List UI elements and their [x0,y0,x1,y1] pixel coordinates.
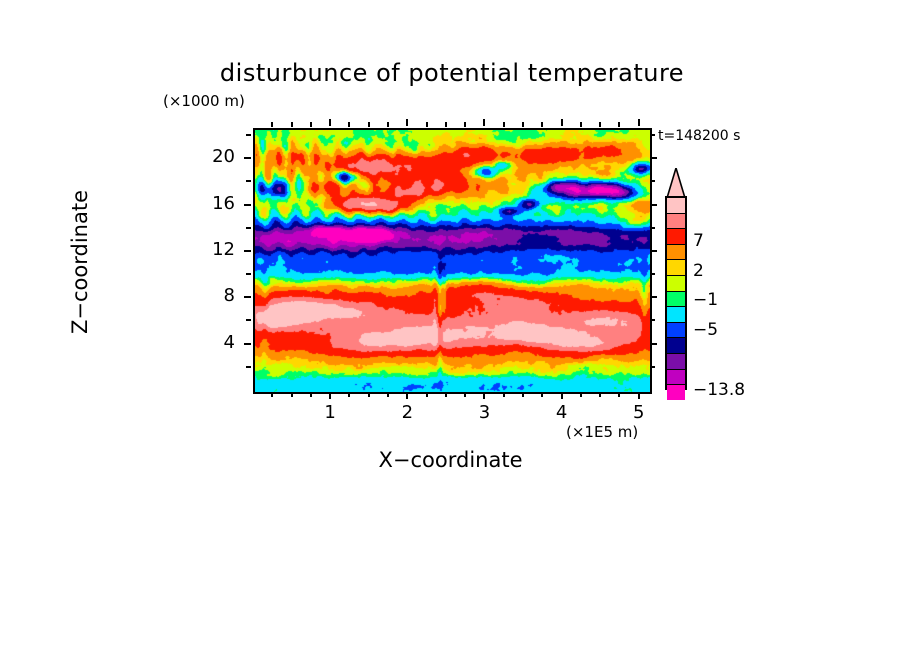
colorbar-label: 7 [693,231,704,251]
y-minor-tick [650,273,655,275]
y-tick [244,157,251,159]
y-tick-label: 12 [195,239,235,260]
colorbar-band [667,244,685,260]
y-tick-label: 4 [195,332,235,353]
x-minor-tick [541,392,543,397]
x-minor-tick [503,392,505,397]
colorbar-band [667,228,685,244]
y-tick-right [650,204,657,206]
x-minor-tick [387,392,389,397]
x-minor-tick [599,122,601,127]
y-axis-title: Z−coordinate [68,122,92,402]
y-tick-right [650,157,657,159]
x-minor-tick [310,392,312,397]
colorbar-band [667,306,685,322]
colorbar-band [667,198,685,213]
y-minor-tick [650,366,655,368]
y-tick [244,296,251,298]
x-minor-tick [580,392,582,397]
x-minor-tick [291,122,293,127]
x-minor-tick [310,122,312,127]
x-minor-tick [541,122,543,127]
x-minor-tick [522,122,524,127]
colorbar-band [667,291,685,307]
colorbar-legend: 72−1−5−13.8 [665,168,687,390]
x-minor-tick [348,122,350,127]
x-axis-title: X−coordinate [253,448,648,472]
x-minor-tick [426,122,428,127]
y-axis-unit-label: (×1000 m) [163,92,245,110]
x-minor-tick [368,392,370,397]
x-tick-label: 1 [310,402,350,423]
x-tick [329,392,331,399]
x-tick [638,392,640,399]
y-tick [244,204,251,206]
x-minor-tick [618,122,620,127]
y-minor-tick [650,180,655,182]
y-minor-tick [650,319,655,321]
y-tick [244,343,251,345]
x-tick-label: 2 [387,402,427,423]
x-tick-top [406,119,408,126]
y-minor-tick [246,273,251,275]
y-minor-tick [650,134,655,136]
x-minor-tick [426,392,428,397]
y-tick-right [650,343,657,345]
x-minor-tick [271,122,273,127]
x-minor-tick [522,392,524,397]
x-tick-label: 4 [542,402,582,423]
colorbar-label: −5 [693,320,718,340]
y-tick-right [650,250,657,252]
x-minor-tick [503,122,505,127]
y-minor-tick [246,180,251,182]
x-minor-tick [618,392,620,397]
x-minor-tick [464,122,466,127]
x-minor-tick [464,392,466,397]
x-minor-tick [368,122,370,127]
x-minor-tick [599,392,601,397]
colorbar-arrow-icon [665,168,687,198]
x-minor-tick [445,122,447,127]
colorbar-band [667,384,685,400]
page-title: disturbunce of potential temperature [0,59,904,87]
x-minor-tick [387,122,389,127]
x-tick-label: 5 [619,402,659,423]
colorbar-band [667,213,685,229]
colorbar-label: −13.8 [693,380,745,400]
y-tick-label: 16 [195,193,235,214]
x-tick-top [561,119,563,126]
y-tick-label: 20 [195,146,235,167]
colorbar-band [667,337,685,353]
x-tick [561,392,563,399]
contour-field [255,130,650,392]
colorbar-label: 2 [693,261,704,281]
y-minor-tick [246,319,251,321]
y-tick-label: 8 [195,285,235,306]
x-minor-tick [348,392,350,397]
colorbar-bands [665,196,687,390]
colorbar-band [667,353,685,369]
x-tick-top [638,119,640,126]
x-minor-tick [291,392,293,397]
plot-area [253,128,652,394]
y-tick [244,250,251,252]
time-annotation: t=148200 s [658,128,740,144]
colorbar-band [667,259,685,275]
y-minor-tick [650,227,655,229]
y-tick-right [650,296,657,298]
y-minor-tick [246,134,251,136]
y-minor-tick [246,227,251,229]
x-tick [406,392,408,399]
colorbar-band [667,369,685,385]
y-minor-tick [246,366,251,368]
x-tick [483,392,485,399]
x-minor-tick [445,392,447,397]
x-minor-tick [580,122,582,127]
colorbar-band [667,275,685,291]
contour-plot-figure: disturbunce of potential temperature (×1… [0,0,904,654]
colorbar-band [667,322,685,338]
x-tick-label: 3 [464,402,504,423]
colorbar-label: −1 [693,290,718,310]
x-minor-tick [271,392,273,397]
x-tick-top [329,119,331,126]
x-tick-top [483,119,485,126]
x-axis-unit-label: (×1E5 m) [566,423,638,441]
